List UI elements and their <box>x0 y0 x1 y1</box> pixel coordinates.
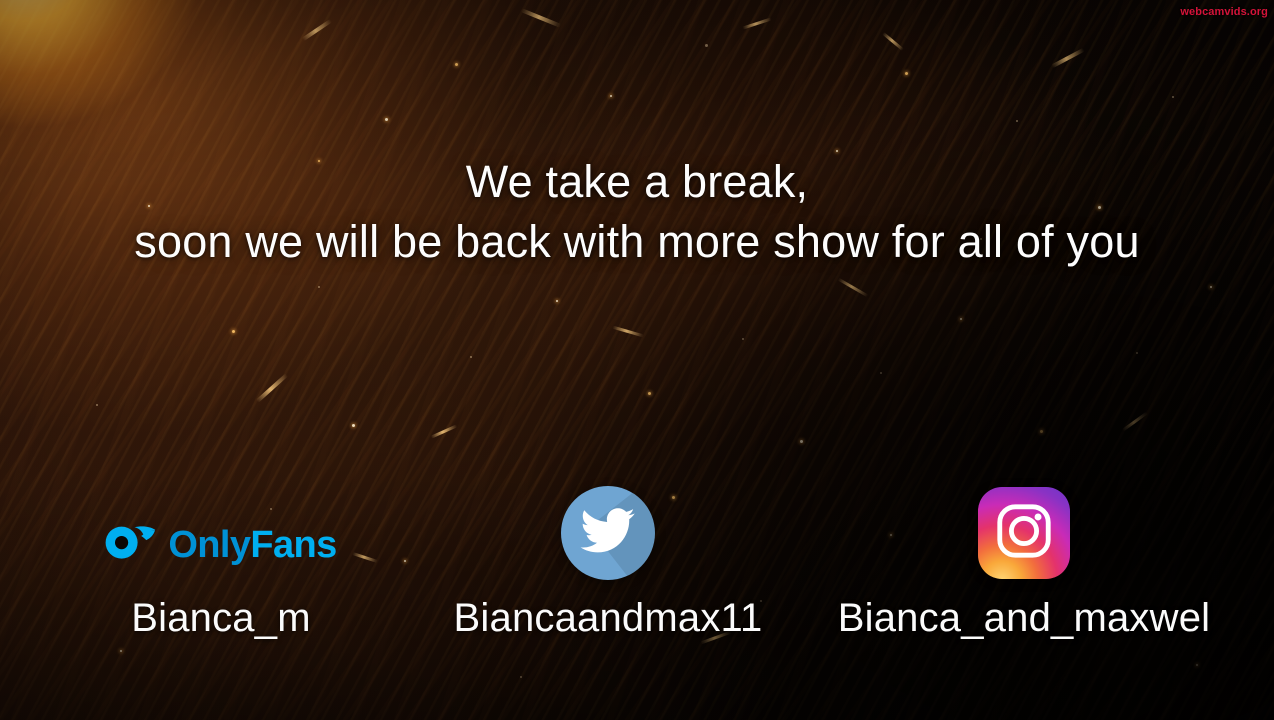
twitter-bird-icon <box>580 508 636 559</box>
twitter-handle: Biancaandmax11 <box>454 596 763 640</box>
instagram-handle: Bianca_and_maxwel <box>838 596 1211 640</box>
instagram-badge[interactable] <box>978 487 1070 579</box>
onlyfans-handle: Bianca_m <box>131 596 310 640</box>
social-links-row: OnlyFans Bianca_m Biancaandmax11 <box>0 470 1274 640</box>
onlyfans-wordmark: OnlyFans <box>168 525 336 565</box>
social-instagram[interactable]: Bianca_and_maxwel <box>804 470 1244 640</box>
twitter-badge[interactable] <box>561 486 655 580</box>
social-onlyfans[interactable]: OnlyFans Bianca_m <box>30 470 412 640</box>
site-watermark: webcamvids.org <box>1180 6 1268 18</box>
stream-break-overlay: webcamvids.org We take a break, soon we … <box>0 0 1274 720</box>
onlyfans-icon <box>105 526 157 564</box>
instagram-icon <box>993 500 1055 567</box>
onlyfans-badge-area: OnlyFans <box>105 470 336 596</box>
twitter-badge-area <box>561 470 655 596</box>
instagram-badge-area <box>978 470 1070 596</box>
onlyfans-wordmark-fans: Fans <box>250 524 336 566</box>
break-message: We take a break, soon we will be back wi… <box>0 152 1274 272</box>
social-twitter[interactable]: Biancaandmax11 <box>412 470 804 640</box>
onlyfans-logo: OnlyFans <box>105 525 336 565</box>
onlyfans-wordmark-only: Only <box>168 524 250 566</box>
